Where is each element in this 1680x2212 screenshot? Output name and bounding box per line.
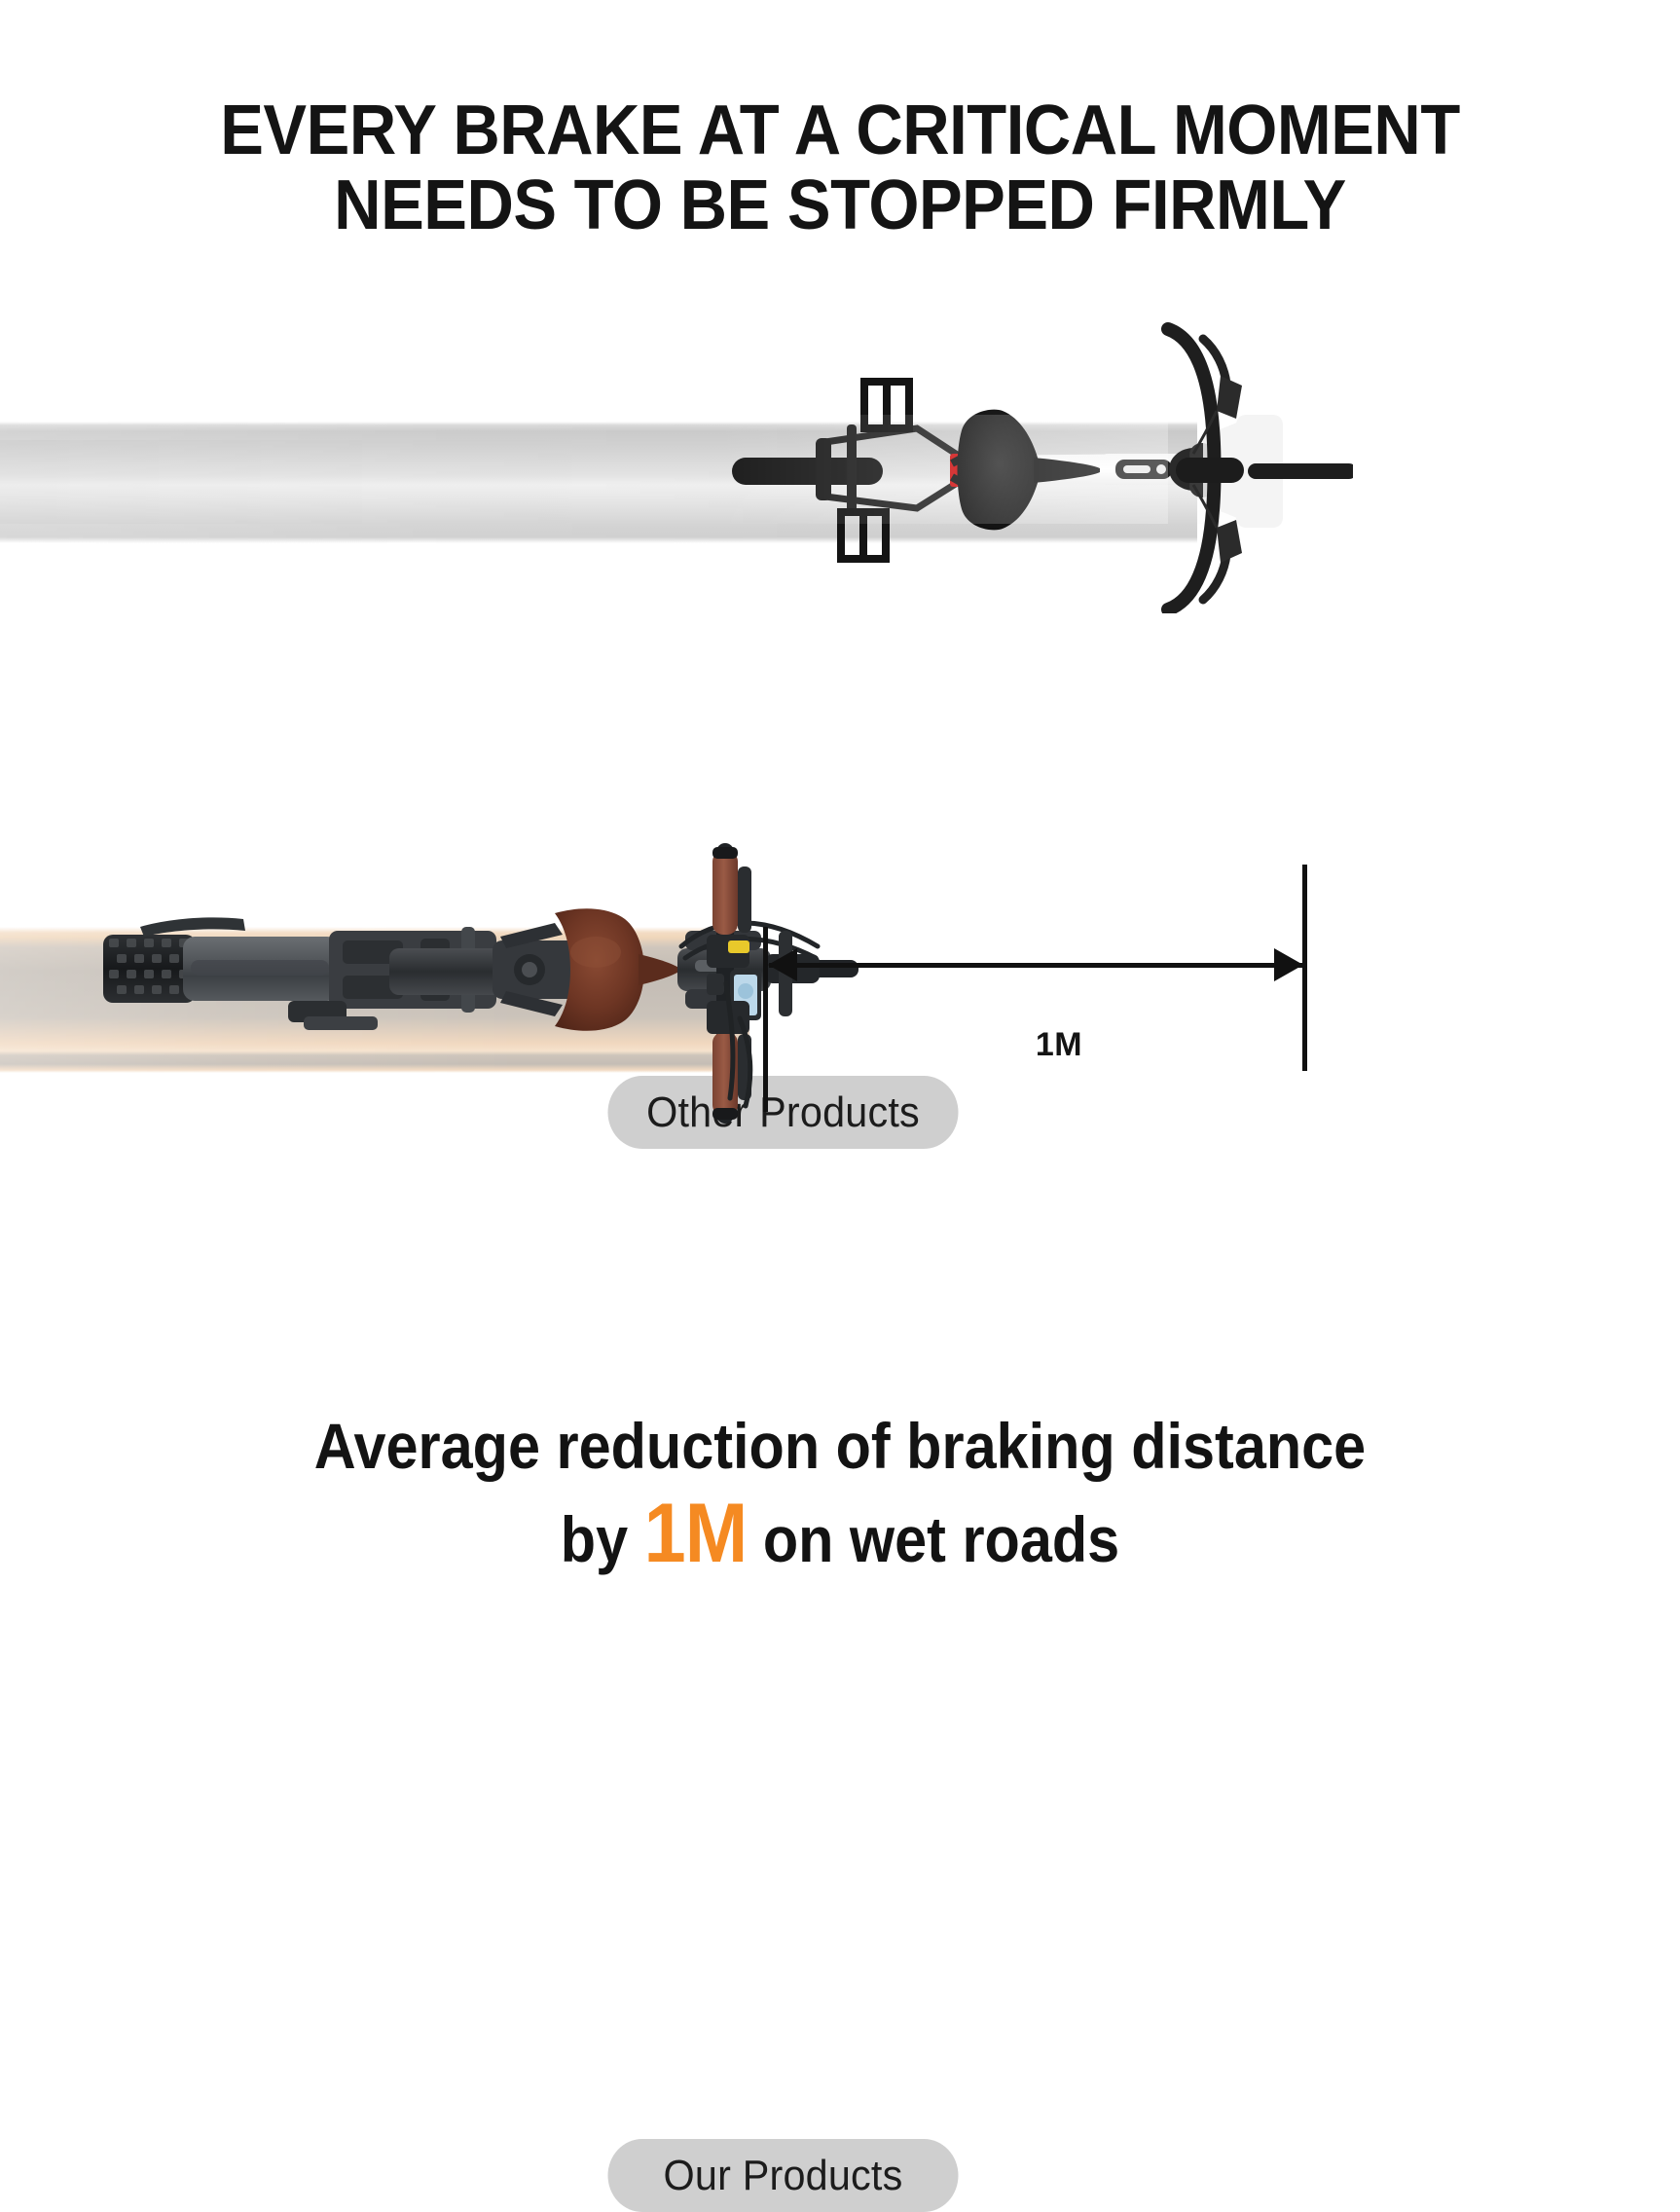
bell — [728, 940, 749, 953]
dimension-arrow-left-icon — [768, 948, 797, 981]
dimension-arrow-right-icon — [1274, 948, 1303, 981]
bar-centre — [1176, 458, 1244, 483]
caption-line-1: Average reduction of braking distance — [314, 1410, 1366, 1482]
dimension-label: 1M — [1001, 1026, 1117, 1064]
label-our-products: Our Products — [607, 2139, 958, 2212]
caption-prefix: by — [561, 1503, 644, 1575]
scene-other-products: Other Products — [0, 321, 1680, 643]
battery-pack — [389, 948, 506, 995]
caption-suffix: on wet roads — [747, 1503, 1119, 1575]
poster-canvas: EVERY BRAKE AT A CRITICAL MOMENT NEEDS T… — [0, 0, 1680, 1680]
scene-our-products: Our Products — [0, 837, 1680, 1159]
grip-upper — [712, 847, 751, 935]
rear-wheel — [103, 935, 196, 1003]
dimension-line — [769, 963, 1302, 968]
caption-line-2: by 1M on wet roads — [84, 1487, 1595, 1581]
page-title: EVERY BRAKE AT A CRITICAL MOMENT NEEDS T… — [58, 93, 1621, 243]
footer-caption: Average reduction of braking distance by… — [84, 1410, 1595, 1581]
road-bike-illustration — [711, 321, 1353, 613]
bar-end — [1248, 463, 1353, 479]
kickstand — [140, 917, 245, 937]
caption-highlight: 1M — [644, 1487, 748, 1580]
ebike-illustration — [97, 837, 876, 1129]
